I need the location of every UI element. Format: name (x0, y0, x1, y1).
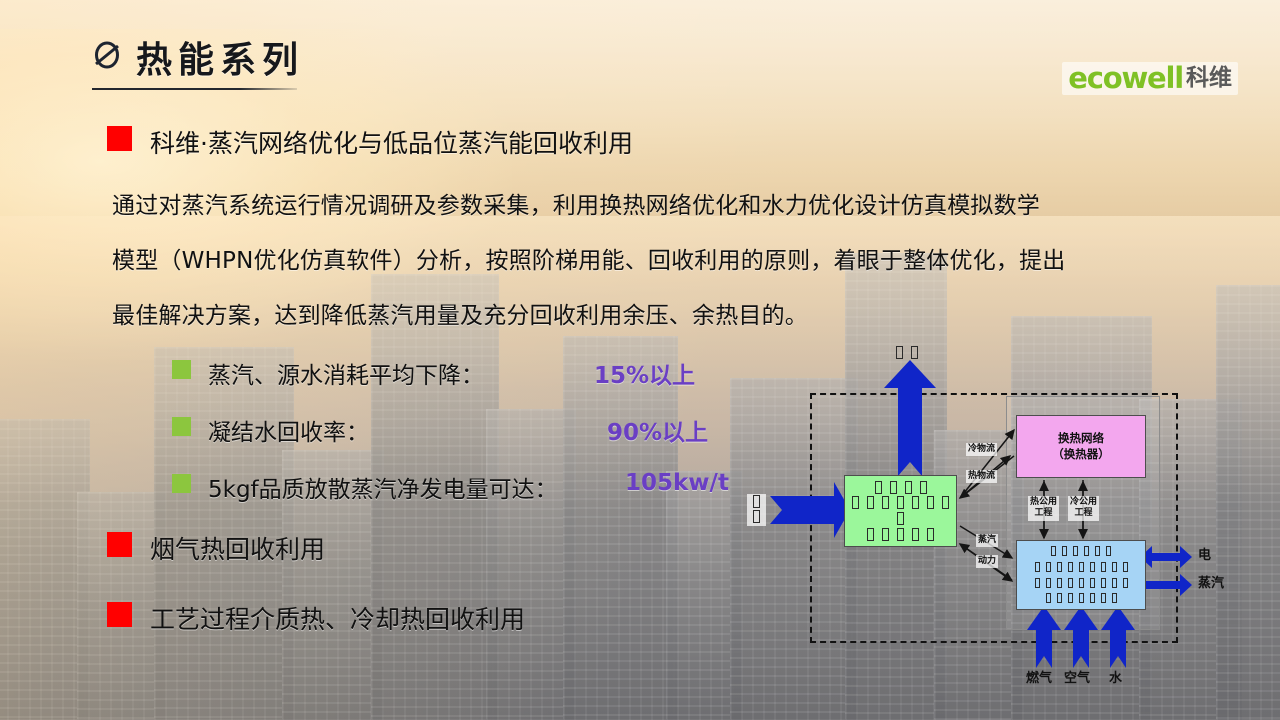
process-flow-diagram: 换热网络 （换热器） 冷物流 热物流 蒸汽 动力 热公用 工程 冷公用 工程 (748, 348, 1276, 700)
sub-bullet-2-label: 凝结水回收率： (208, 413, 369, 447)
bullet-1-text: 科维·蒸汽网络优化与低品位蒸汽能回收利用 (150, 124, 633, 160)
sub-bullet-marker-1 (172, 360, 191, 379)
hen-line-2: （换热器） (1052, 447, 1110, 461)
hot-utility-label: 热公用 工程 (1028, 496, 1059, 521)
ecowell-logo: ecowell 科维 (1062, 62, 1238, 95)
hot-stream-label: 热物流 (966, 470, 997, 483)
power-flow-label: 动力 (976, 555, 998, 568)
hot-utility-line-1: 热公用 (1030, 497, 1057, 507)
process-plant-node (844, 475, 957, 547)
exhaust-label (892, 346, 922, 359)
utility-plant-label (1032, 544, 1131, 606)
heat-exchange-network-node: 换热网络 （换热器） (1016, 415, 1146, 478)
input-water-label: 水 (1109, 671, 1122, 687)
sub-bullet-3-label: 5kgf品质放散蒸汽净发电量可达： (208, 470, 558, 504)
hot-utility-line-2: 工程 (1035, 508, 1053, 518)
bullet-marker-2 (107, 532, 132, 557)
output-electricity-label: 电 (1198, 548, 1211, 564)
sub-bullet-marker-2 (172, 417, 191, 436)
sub-bullet-3-value: 105kw/t (625, 470, 729, 496)
bullet-3-text: 工艺过程介质热、冷却热回收利用 (150, 600, 525, 636)
title-underline (92, 88, 297, 90)
circle-slash-icon (92, 40, 122, 70)
bullet-marker-3 (107, 602, 132, 627)
cold-utility-label: 冷公用 工程 (1068, 496, 1099, 521)
cold-stream-label: 冷物流 (966, 443, 997, 456)
process-plant-label (845, 480, 956, 542)
hen-line-1: 换热网络 (1058, 431, 1104, 445)
bullet-2-text: 烟气热回收利用 (150, 530, 325, 566)
sub-bullet-marker-3 (172, 474, 191, 493)
logo-chinese-name: 科维 (1186, 67, 1232, 90)
page-title: 热能系列 (136, 31, 304, 83)
logo-wordmark: ecowell (1068, 64, 1183, 93)
paragraph-line-3: 最佳解决方案，达到降低蒸汽用量及充分回收利用余压、余热目的。 (112, 296, 808, 330)
diagram-arrows (748, 348, 1276, 700)
slide-content: 热能系列 ecowell 科维 科维·蒸汽网络优化与低品位蒸汽能回收利用 通过对… (0, 0, 1280, 720)
heat-exchange-network-label: 换热网络 （换热器） (1052, 431, 1110, 462)
bullet-marker-1 (107, 126, 132, 151)
utility-plant-node (1016, 540, 1146, 610)
cold-utility-line-1: 冷公用 (1070, 497, 1097, 507)
input-air-label: 空气 (1064, 671, 1090, 687)
paragraph-line-2: 模型（WHPN优化仿真软件）分析，按照阶梯用能、回收利用的原则，着眼于整体优化，… (112, 241, 1066, 275)
input-stream-label (747, 494, 766, 526)
paragraph-line-1: 通过对蒸汽系统运行情况调研及参数采集，利用换热网络优化和水力优化设计仿真模拟数学 (112, 186, 1040, 220)
sub-bullet-2-value: 90%以上 (607, 413, 708, 447)
sub-bullet-1-label: 蒸汽、源水消耗平均下降： (208, 356, 484, 390)
steam-flow-label: 蒸汽 (976, 534, 998, 547)
output-steam-label: 蒸汽 (1198, 576, 1224, 592)
input-gas-label: 燃气 (1026, 671, 1052, 687)
cold-utility-line-2: 工程 (1075, 508, 1093, 518)
sub-bullet-1-value: 15%以上 (594, 356, 695, 390)
